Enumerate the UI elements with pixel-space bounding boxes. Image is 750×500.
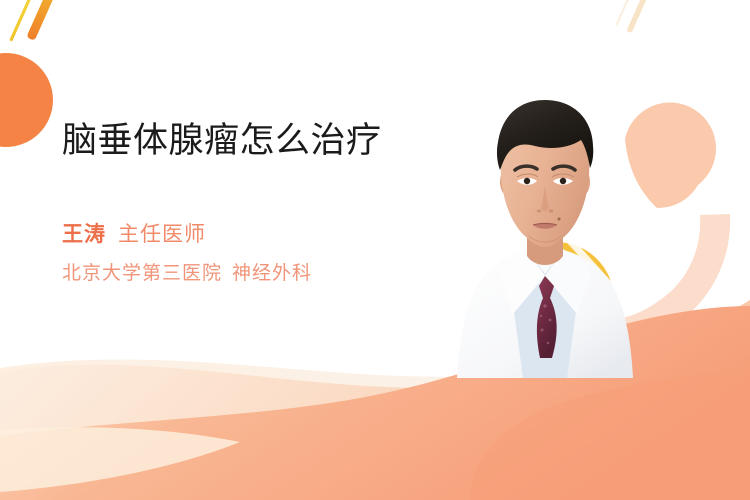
portrait-mole [558, 218, 561, 221]
decor-stripes-topleft [9, 0, 66, 42]
doctor-affiliation-row: 北京大学第三医院神经外科 [62, 259, 422, 288]
doctor-portrait [455, 78, 635, 378]
decor-wave-mid [0, 300, 750, 500]
decor-wave-lobe [470, 372, 750, 500]
decor-wave-leftwash [0, 427, 240, 492]
page-title: 脑垂体腺瘤怎么治疗 [62, 120, 402, 163]
doctor-portrait-illustration [455, 78, 635, 378]
cover-text-block: 脑垂体腺瘤怎么治疗 王涛主任医师 北京大学第三医院神经外科 [62, 120, 422, 289]
article-cover-card: 脑垂体腺瘤怎么治疗 王涛主任医师 北京大学第三医院神经外科 [0, 0, 750, 500]
doctor-name: 王涛 [62, 223, 106, 246]
doctor-name-row: 王涛主任医师 [62, 219, 422, 251]
decor-peach-blob [625, 102, 716, 208]
doctor-department: 神经外科 [232, 263, 312, 284]
decor-faint-stripes-topright [615, 0, 655, 33]
doctor-hospital: 北京大学第三医院 [62, 263, 222, 284]
decor-wave-strong [0, 306, 750, 500]
doctor-title: 主任医师 [118, 223, 206, 246]
doctor-byline: 王涛主任医师 北京大学第三医院神经外科 [62, 219, 422, 289]
decor-circle-left [0, 53, 53, 147]
decor-wave-lightest [0, 306, 750, 500]
